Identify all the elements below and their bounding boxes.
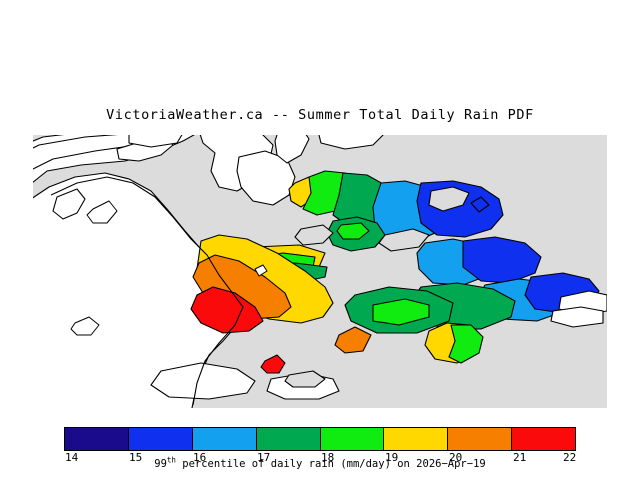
colorbar-segment-21-22[interactable] xyxy=(512,428,575,450)
map-canvas[interactable] xyxy=(33,135,607,408)
colorbar-segment-14-15[interactable] xyxy=(65,428,129,450)
caption-prefix: 99 xyxy=(154,458,167,470)
colorbar-caption: 99th percentile of daily rain (mm/day) o… xyxy=(0,458,640,470)
page-title: VictoriaWeather.ca -- Summer Total Daily… xyxy=(0,107,640,123)
caption-rest: percentile of daily rain (mm/day) on 202… xyxy=(176,458,486,470)
colorbar-segment-16-17[interactable] xyxy=(193,428,257,450)
colorbar-segment-15-16[interactable] xyxy=(129,428,193,450)
colorbar-segment-20-21[interactable] xyxy=(448,428,512,450)
weather-map-page: VictoriaWeather.ca -- Summer Total Daily… xyxy=(0,0,640,480)
colorbar-container[interactable] xyxy=(64,427,576,451)
caption-superscript: th xyxy=(167,456,176,465)
map-panel[interactable] xyxy=(33,135,607,408)
colorbar-segment-17-18[interactable] xyxy=(257,428,321,450)
colorbar-segment-18-19[interactable] xyxy=(321,428,385,450)
colorbar-segment-19-20[interactable] xyxy=(384,428,448,450)
colorbar[interactable] xyxy=(64,427,576,451)
